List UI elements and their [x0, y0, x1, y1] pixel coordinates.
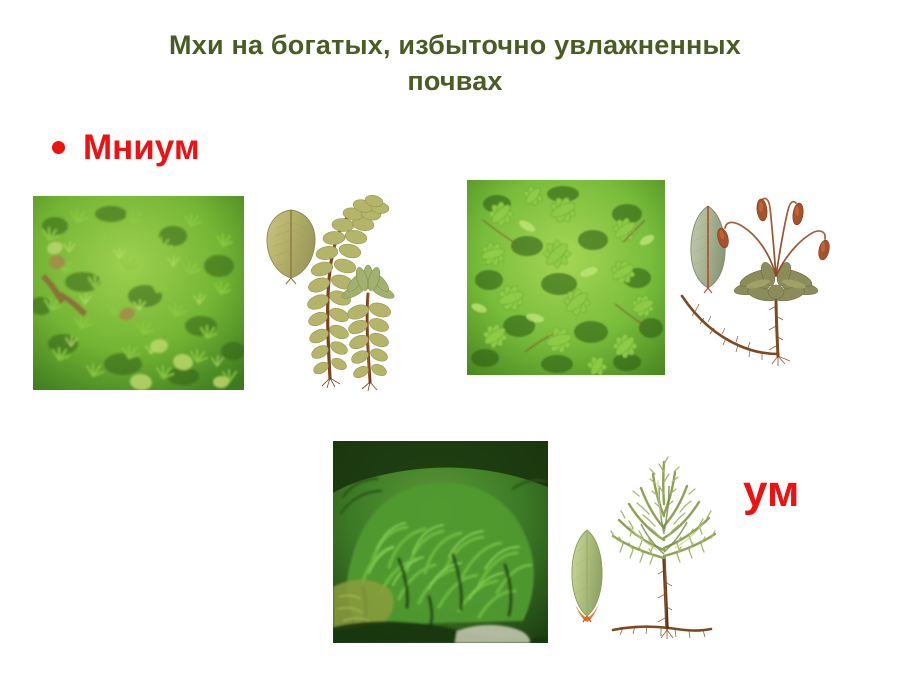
illus-mnium-sporo — [678, 188, 830, 374]
illus-mnium-shoots-image — [258, 192, 408, 392]
illus-mnium-shoots — [258, 192, 408, 392]
tree-moss — [611, 457, 715, 639]
leaf-detail — [572, 530, 602, 622]
illus-climacium — [557, 438, 729, 648]
photo-moss-carpet-image — [33, 196, 244, 390]
slide-canvas: Мхи на богатых, избыточно увлажненных по… — [0, 0, 910, 683]
bullet-dot-icon — [52, 141, 65, 154]
bullet-item-label: Мниум — [83, 130, 200, 165]
photo-moss-carpet — [33, 196, 244, 390]
leaf-detail — [691, 206, 725, 293]
leaf-detail — [267, 210, 315, 284]
photo-moss-cushion-image — [333, 441, 548, 643]
photo-moss-cushion — [333, 441, 548, 643]
illus-mnium-sporo-image — [678, 188, 830, 374]
photo-moss-rosette — [467, 180, 665, 375]
trailing-word-fragment: ум — [743, 470, 799, 514]
bullet-item-mnium: Мниум — [52, 130, 200, 165]
illus-climacium-image — [557, 438, 729, 648]
photo-moss-rosette-image — [467, 180, 665, 375]
page-title: Мхи на богатых, избыточно увлажненных по… — [70, 28, 840, 99]
